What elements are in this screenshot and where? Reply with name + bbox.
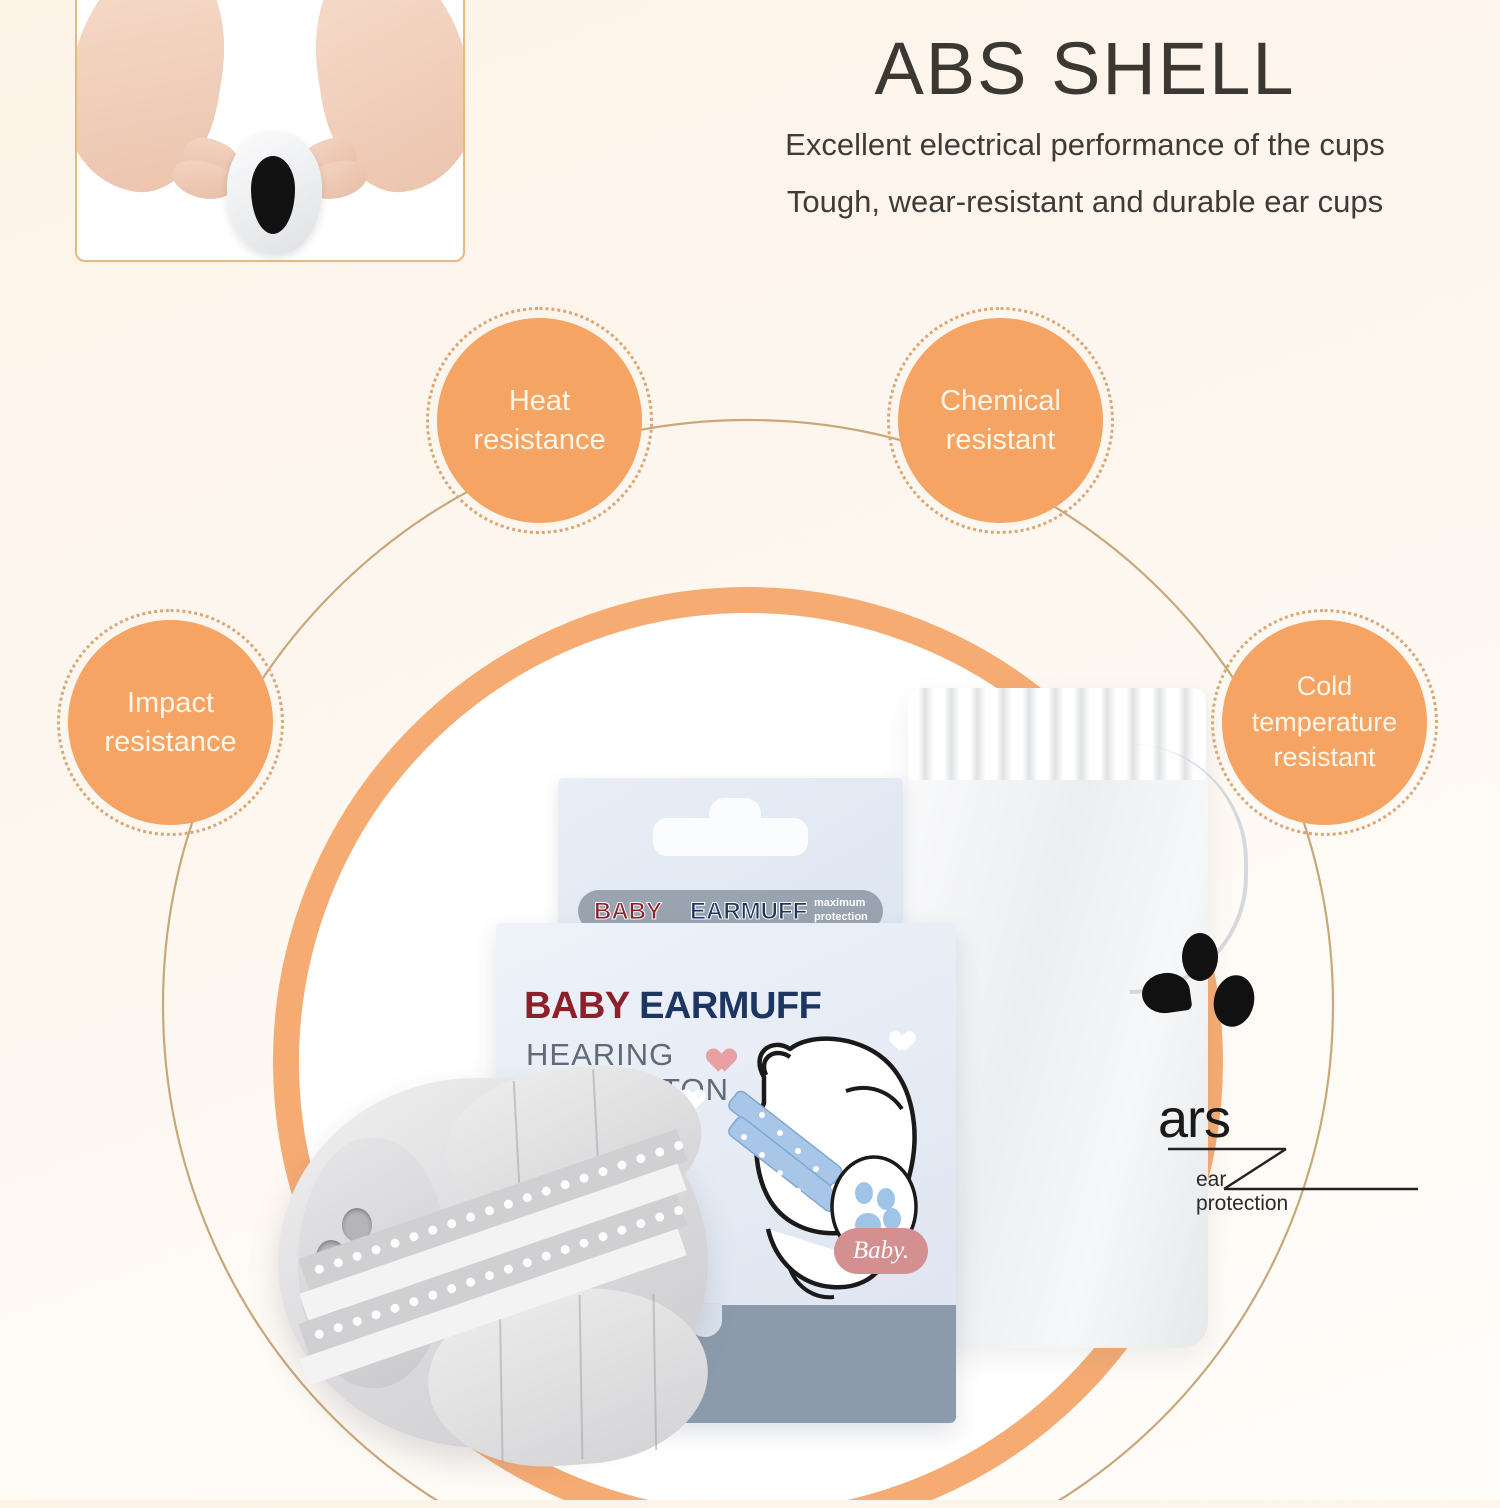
strap-dot (578, 1172, 589, 1183)
paw-toe (1182, 933, 1218, 981)
strap-dot (314, 1329, 325, 1340)
strap-dot (465, 1211, 476, 1222)
paw-toe (1139, 970, 1192, 1016)
cup-seam (499, 1303, 504, 1463)
strap-dot (370, 1244, 381, 1255)
back-note-line-1: maximum (814, 897, 865, 909)
strap-dot (522, 1257, 533, 1268)
strap-dot (635, 1218, 646, 1229)
box-brand-earmuff: EARMUFF (639, 985, 821, 1027)
strap-dot (333, 1322, 344, 1333)
feature-label: Chemicalresistant (940, 382, 1061, 459)
strap-dot (370, 1309, 381, 1320)
back-note-line-2: protection (814, 911, 868, 923)
bag-brand-text: ars (1158, 1088, 1230, 1150)
feature-bubble-cold-temperature-resistant[interactable]: Coldtemperatureresistant (1222, 620, 1427, 825)
feature-label: Impactresistance (104, 684, 236, 761)
strap-dot (597, 1166, 608, 1177)
feature-bubble-chemical-resistant[interactable]: Chemicalresistant (898, 318, 1103, 523)
strap-dot (446, 1218, 457, 1229)
strap-dot (314, 1264, 325, 1275)
cup-seam (579, 1295, 584, 1459)
strap-dot (465, 1276, 476, 1287)
feature-label: Coldtemperatureresistant (1252, 669, 1398, 776)
hang-tab-cutout (653, 818, 808, 856)
feature-bubble-heat-resistance[interactable]: Heatresistance (437, 318, 642, 523)
strap-dot (654, 1211, 665, 1222)
strap-dot (559, 1244, 570, 1255)
back-brand-baby: BABY (594, 898, 662, 926)
paw-toe (1209, 971, 1259, 1030)
strap-dot (541, 1185, 552, 1196)
baby-earmuff-product (278, 1068, 718, 1468)
bag-tagline-text: ear protection (1196, 1168, 1288, 1216)
strap-dot (351, 1316, 362, 1327)
strap-dot (484, 1205, 495, 1216)
strap-dot (522, 1192, 533, 1203)
strap-dot (427, 1224, 438, 1235)
strap-dot (559, 1179, 570, 1190)
cup-seam (652, 1294, 657, 1450)
strap-dot (654, 1146, 665, 1157)
box-brand-baby: BABY (524, 985, 629, 1027)
strap-dot (616, 1224, 627, 1235)
paw-print-logo-icon (1148, 933, 1253, 1028)
strap-dot (503, 1198, 514, 1209)
box-brand-title: BABY EARMUFF (524, 985, 821, 1028)
baby-wearing-earmuff-illustration (706, 1033, 956, 1343)
strap-dot (389, 1238, 400, 1249)
strap-dot (503, 1263, 514, 1274)
baby-badge: Baby. (834, 1228, 928, 1274)
back-max-protection-note: maximum protection (814, 897, 868, 925)
strap-dot (389, 1303, 400, 1314)
strap-dot (578, 1237, 589, 1248)
strap-dot (427, 1289, 438, 1300)
strap-dot (408, 1296, 419, 1307)
strap-dot (333, 1257, 344, 1268)
strap-dot (597, 1231, 608, 1242)
strap-dot (484, 1270, 495, 1281)
product-scene: ars ear protection BABY EARMUFF maximum … (258, 578, 1238, 1508)
strap-dot (446, 1283, 457, 1294)
back-brand-earmuff: EARMUFF (690, 898, 807, 926)
strap-dot (635, 1153, 646, 1164)
feature-bubble-impact-resistance[interactable]: Impactresistance (68, 620, 273, 825)
strap-dot (408, 1231, 419, 1242)
feature-label: Heatresistance (473, 382, 605, 459)
strap-dot (541, 1250, 552, 1261)
strap-dot (616, 1159, 627, 1170)
strap-dot (351, 1251, 362, 1262)
